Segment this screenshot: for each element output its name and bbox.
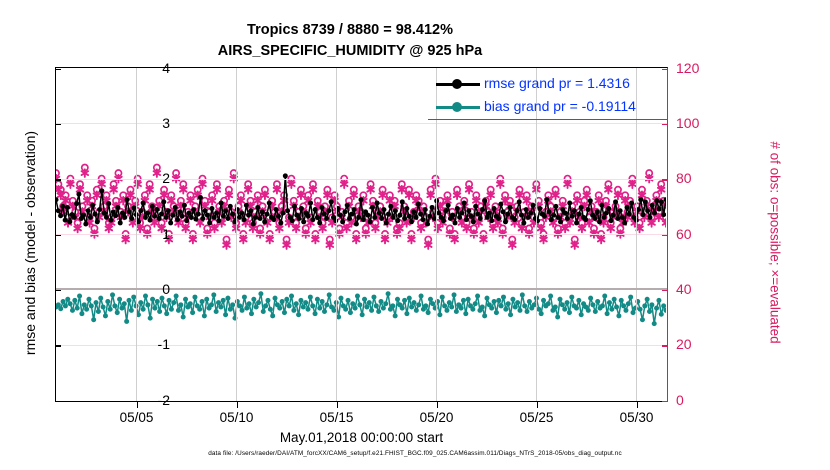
figure-canvas: Tropics 8739 / 8880 = 98.412% AIRS_SPECI… xyxy=(0,0,830,470)
x-tick-label: 05/30 xyxy=(607,410,667,425)
y-tick-label-right: 120 xyxy=(676,60,718,76)
y-tick-label-left: 1 xyxy=(130,226,170,242)
legend-label-bias: bias grand pr = -0.19114 xyxy=(484,98,636,114)
x-tick-mark xyxy=(637,402,638,408)
y-tick-label-left: 2 xyxy=(130,170,170,186)
y-tick-label-right: 40 xyxy=(676,281,718,297)
legend-item-rmse[interactable]: rmse grand pr = 1.4316 xyxy=(428,73,667,95)
y-tick-label-right: 0 xyxy=(676,392,718,408)
x-tick-mark xyxy=(237,402,238,408)
y-tick-mark-left xyxy=(55,345,61,346)
title-line-1: Tropics 8739 / 8880 = 98.412% xyxy=(0,20,700,41)
y-tick-label-left: -1 xyxy=(130,336,170,352)
y-tick-label-right: 80 xyxy=(676,170,718,186)
data-file-footer: data file: /Users/raeder/DAI/ATM_forcXX/… xyxy=(0,450,830,457)
x-tick-mark xyxy=(337,402,338,408)
x-tick-label: 05/15 xyxy=(307,410,367,425)
legend-item-bias[interactable]: bias grand pr = -0.19114 xyxy=(428,96,667,118)
x-tick-label: 05/20 xyxy=(407,410,467,425)
chart-title: Tropics 8739 / 8880 = 98.412% AIRS_SPECI… xyxy=(0,20,700,62)
y-tick-mark-right xyxy=(662,345,668,346)
y-tick-label-left: 4 xyxy=(130,60,170,76)
legend-marker-rmse xyxy=(452,79,462,89)
y-tick-mark-left xyxy=(55,401,61,402)
y-tick-mark-left xyxy=(55,69,61,70)
y-tick-mark-right xyxy=(662,401,668,402)
y-axis-label-right: # of obs: o=possible; ×=evaluated xyxy=(768,63,783,423)
x-tick-label: 05/05 xyxy=(107,410,167,425)
x-tick-mark xyxy=(437,402,438,408)
gridline-vertical xyxy=(336,68,337,401)
title-line-2: AIRS_SPECIFIC_HUMIDITY @ 925 hPa xyxy=(0,41,700,62)
y-tick-mark-left xyxy=(55,124,61,125)
y-tick-label-right: 60 xyxy=(676,226,718,242)
x-tick-label: 05/25 xyxy=(507,410,567,425)
chart-legend[interactable]: rmse grand pr = 1.4316 bias grand pr = -… xyxy=(428,72,668,120)
y-tick-mark-right xyxy=(662,290,668,291)
x-tick-label: 05/10 xyxy=(207,410,267,425)
gridline-vertical xyxy=(236,68,237,401)
y-tick-mark-left xyxy=(55,179,61,180)
y-tick-label-right: 100 xyxy=(676,115,718,131)
x-axis-label: May.01,2018 00:00:00 start xyxy=(55,430,668,445)
x-tick-mark xyxy=(137,402,138,408)
legend-label-rmse: rmse grand pr = 1.4316 xyxy=(484,75,630,91)
y-tick-label-left: 0 xyxy=(130,281,170,297)
y-tick-label-left: 3 xyxy=(130,115,170,131)
y-tick-mark-right xyxy=(662,69,668,70)
x-tick-mark xyxy=(537,402,538,408)
y-tick-mark-right xyxy=(662,179,668,180)
y-tick-mark-left xyxy=(55,290,61,291)
y-tick-mark-right xyxy=(662,235,668,236)
y-tick-label-right: 20 xyxy=(676,336,718,352)
y-axis-label-left: rmse and bias (model - observation) xyxy=(22,63,38,423)
y-tick-mark-right xyxy=(662,124,668,125)
legend-marker-bias xyxy=(452,102,462,112)
y-tick-mark-left xyxy=(55,235,61,236)
